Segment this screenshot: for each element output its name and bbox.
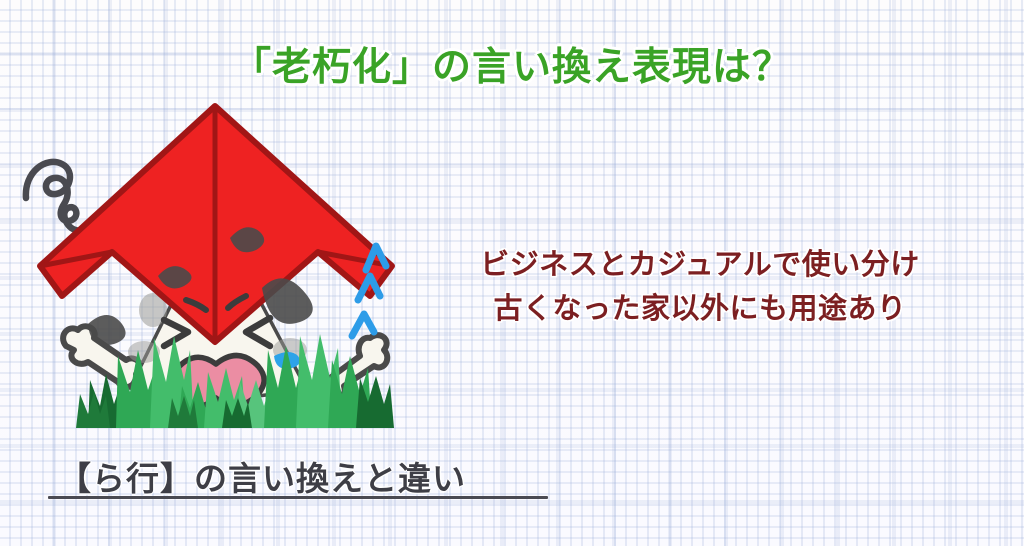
poster-canvas: 「老朽化」の言い換え表現は？ (0, 0, 1024, 546)
lead-line-1: ビジネスとカジュアルで使い分け (430, 242, 970, 286)
lead-line-2: 古くなった家以外にも用途あり (430, 286, 970, 330)
footer-caption: 【ら行】の言い換えと違い (58, 452, 466, 500)
lead-copy: ビジネスとカジュアルで使い分け 古くなった家以外にも用途あり (430, 242, 970, 330)
page-title: 「老朽化」の言い換え表現は？ (0, 36, 1024, 92)
illustration-crying-old-house (18, 88, 418, 448)
footer-underline (48, 496, 548, 499)
house-roof (40, 106, 392, 345)
